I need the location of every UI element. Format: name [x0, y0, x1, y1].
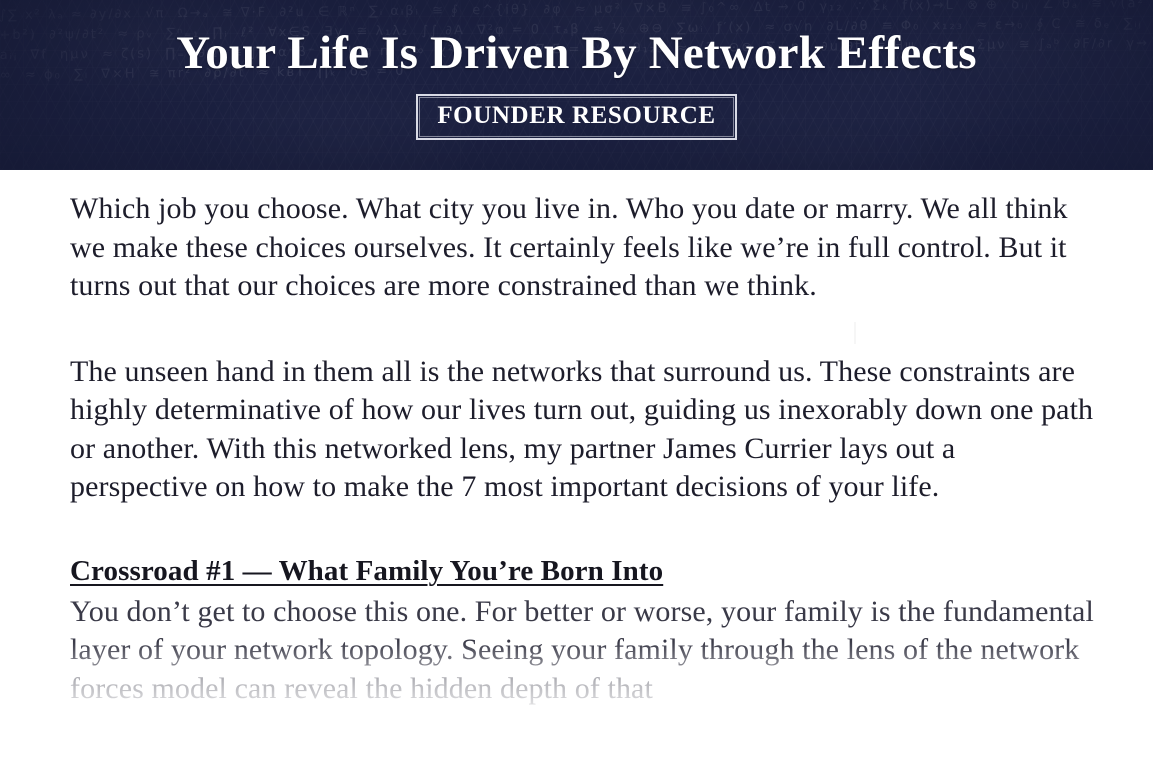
founder-resource-badge: FOUNDER RESOURCE: [416, 94, 736, 140]
paragraph-intro: Which job you choose. What city you live…: [70, 170, 1097, 306]
paragraph-crossroad-1-body: You don’t get to choose this one. For be…: [70, 590, 1097, 709]
section-heading-text: Crossroad #1 — What Family You’re Born I…: [70, 555, 663, 587]
article-header: ∫∑ x² λₐ ≈ ∂y/∂x √π Ω→ₐ ≅ ∇·F ∂²u ∈ ℝⁿ ∑…: [0, 0, 1153, 170]
page-title: Your Life Is Driven By Network Effects: [0, 24, 1153, 82]
badge-container: FOUNDER RESOURCE: [0, 94, 1153, 140]
badge-label: FOUNDER RESOURCE: [437, 102, 715, 130]
article-page: ∫∑ x² λₐ ≈ ∂y/∂x √π Ω→ₐ ≅ ∇·F ∂²u ∈ ℝⁿ ∑…: [0, 0, 1153, 762]
badge-inner-border: FOUNDER RESOURCE: [419, 97, 733, 137]
header-content: Your Life Is Driven By Network Effects F…: [0, 0, 1153, 140]
article-body: Which job you choose. What city you live…: [0, 170, 1153, 708]
paragraph-networks: The unseen hand in them all is the netwo…: [70, 306, 1097, 507]
section-heading-crossroad-1: Crossroad #1 — What Family You’re Born I…: [70, 507, 1097, 590]
